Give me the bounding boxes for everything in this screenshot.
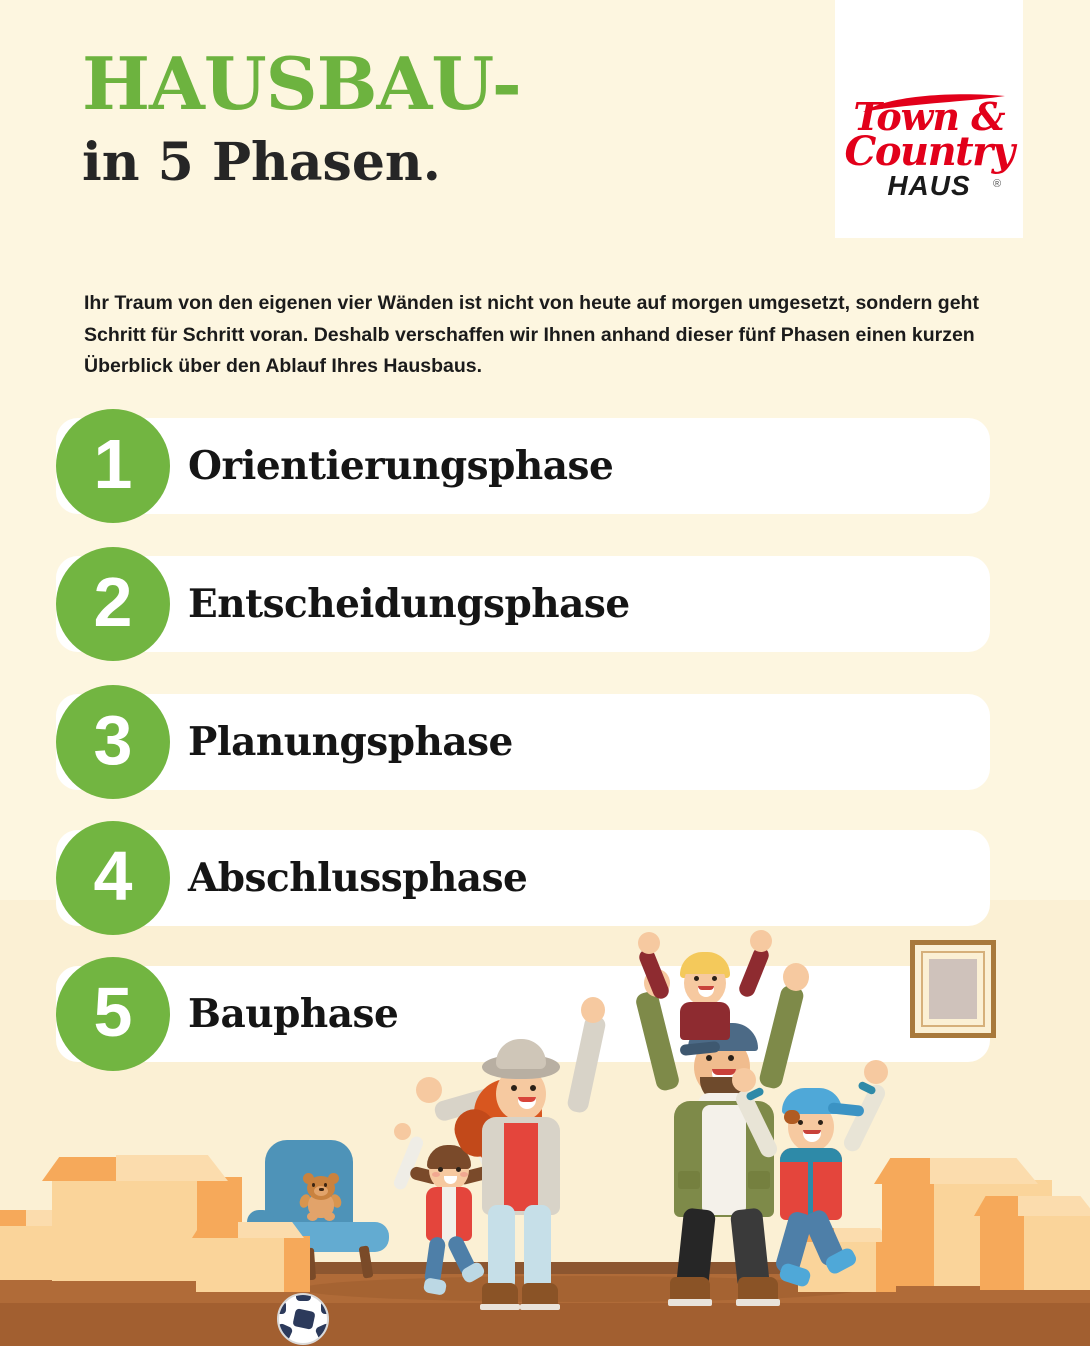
- moving-box: [980, 1196, 1090, 1290]
- infographic-poster: HAUSBAU- in 5 Phasen. Town & Country HAU…: [0, 0, 1090, 1346]
- phase-label: Orientierungsphase: [188, 418, 613, 514]
- framed-picture: [910, 940, 996, 1038]
- moving-box: [196, 1222, 310, 1292]
- phase-row-1[interactable]: 1 Orientierungsphase: [56, 418, 990, 514]
- phase-number-badge: 3: [56, 685, 170, 799]
- phase-number-badge: 1: [56, 409, 170, 523]
- phase-number: 4: [56, 821, 170, 935]
- phase-number-badge: 5: [56, 957, 170, 1071]
- boy-figure: [740, 1060, 900, 1290]
- phase-number-badge: 4: [56, 821, 170, 935]
- phase-row-2[interactable]: 2 Entscheidungsphase: [56, 556, 990, 652]
- phase-number-badge: 2: [56, 547, 170, 661]
- phase-label: Bauphase: [188, 966, 398, 1062]
- phase-label: Entscheidungsphase: [188, 556, 630, 652]
- phase-number: 1: [56, 409, 170, 523]
- soccer-ball-icon: [277, 1293, 329, 1345]
- phase-label: Abschlussphase: [188, 830, 527, 926]
- phase-row-4[interactable]: 4 Abschlussphase: [56, 830, 990, 926]
- picture-artwork: [929, 959, 977, 1019]
- teddy-bear-icon: [299, 1172, 343, 1220]
- phase-row-3[interactable]: 3 Planungsphase: [56, 694, 990, 790]
- phase-label: Planungsphase: [188, 694, 513, 790]
- toddler-figure: [640, 930, 770, 1040]
- phase-number: 2: [56, 547, 170, 661]
- phase-number: 3: [56, 685, 170, 799]
- phase-number: 5: [56, 957, 170, 1071]
